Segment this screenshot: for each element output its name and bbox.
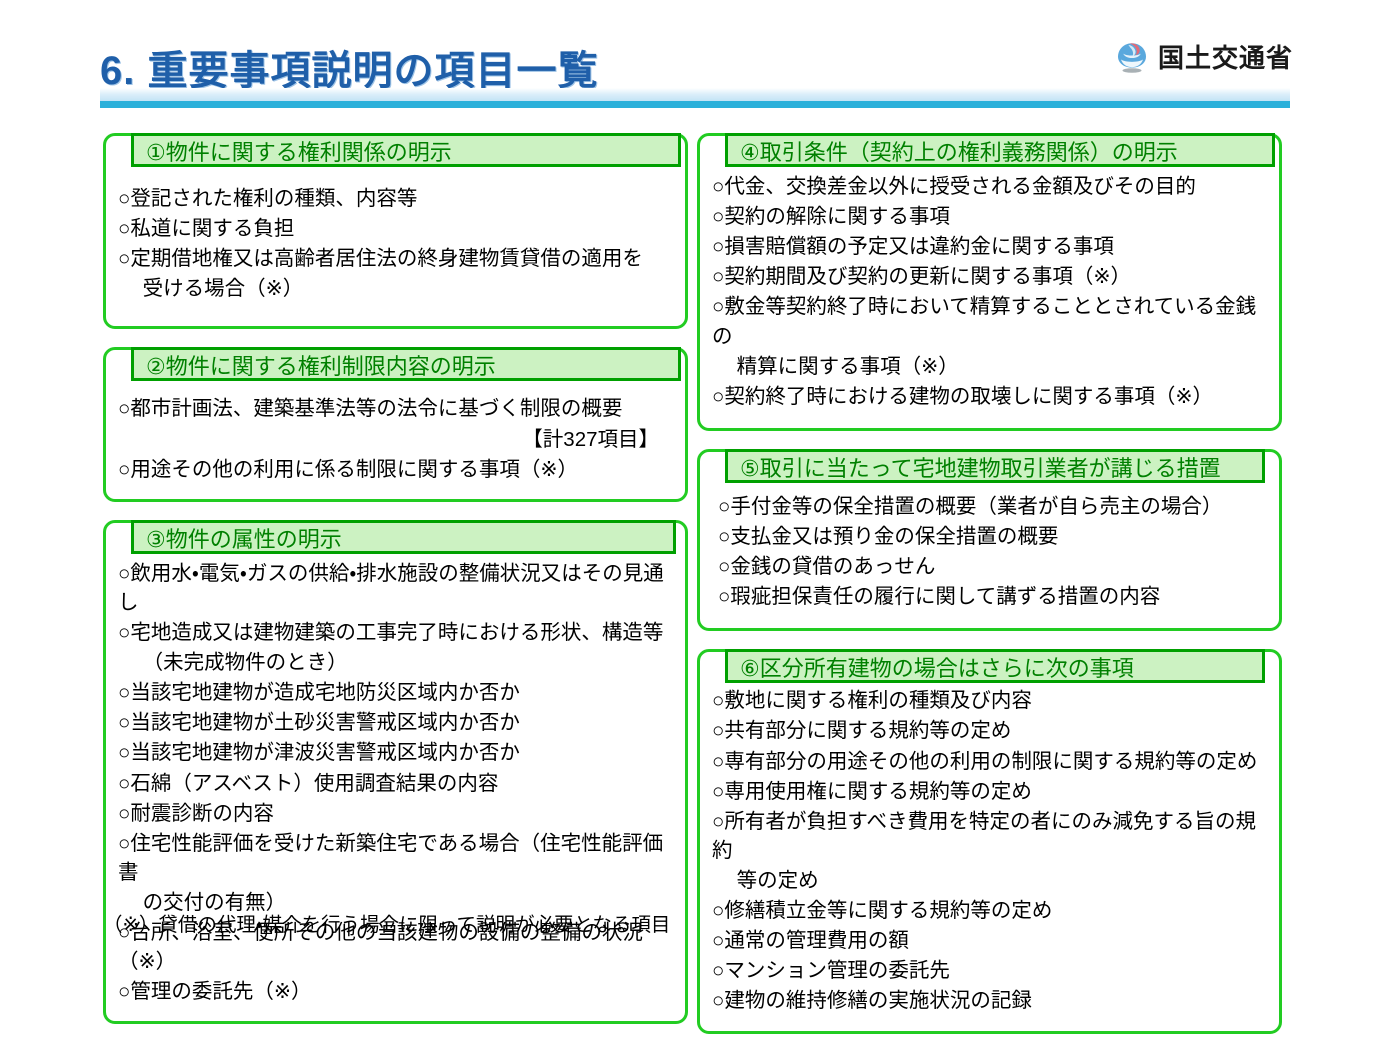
right-column: ④取引条件（契約上の権利義務関係）の明示 ○代金、交換差金以外に授受される金額及…: [697, 133, 1282, 1052]
section-1-item-list: ○登記された権利の種類、内容等 ○私道に関する負担 ○定期借地権又は高齢者居住法…: [118, 184, 673, 303]
section-6: ⑥区分所有建物の場合はさらに次の事項 ○敷地に関する権利の種類及び内容 ○共有部…: [697, 649, 1282, 1033]
list-item: ○当該宅地建物が造成宅地防災区域内か否か: [118, 678, 673, 707]
list-item: ○契約の解除に関する事項: [712, 202, 1267, 231]
section-3-body: ○飲用水・電気・ガスの供給・排水施設の整備状況又はその見通し ○宅地造成又は建物…: [103, 520, 688, 1025]
list-item: ○損害賠償額の予定又は違約金に関する事項: [712, 232, 1267, 261]
section-3: ③物件の属性の明示 ○飲用水・電気・ガスの供給・排水施設の整備状況又はその見通し…: [103, 520, 688, 1025]
list-item: ○用途その他の利用に係る制限に関する事項（※）: [118, 455, 673, 484]
list-item: ○通常の管理費用の額: [712, 926, 1267, 955]
ministry-logo: 国土交通省: [1115, 38, 1293, 75]
list-item: ○建物の維持修繕の実施状況の記録: [712, 986, 1267, 1015]
list-item: ○金銭の貸借のあっせん: [718, 552, 1267, 581]
title-underline-rule: [100, 101, 1290, 108]
list-item: ○当該宅地建物が津波災害警戒区域内か否か: [118, 738, 673, 767]
list-item: ○石綿（アスベスト）使用調査結果の内容: [118, 769, 673, 798]
list-item: ○管理の委託先（※）: [118, 977, 673, 1006]
section-4-item-list: ○代金、交換差金以外に授受される金額及びその目的 ○契約の解除に関する事項 ○損…: [712, 172, 1267, 411]
list-item: ○契約期間及び契約の更新に関する事項（※）: [712, 262, 1267, 291]
list-item: ○マンション管理の委託先: [712, 956, 1267, 985]
slide-header: 6. 重要事項説明の項目一覧 国土交通省: [0, 0, 1375, 118]
list-item-continuation: 等の定め: [712, 866, 1267, 895]
list-item-continuation: （未完成物件のとき）: [118, 648, 673, 677]
list-item: ○宅地造成又は建物建築の工事完了時における形状、構造等: [118, 618, 673, 647]
list-item: ○修繕積立金等に関する規約等の定め: [712, 896, 1267, 925]
list-item: ○支払金又は預り金の保全措置の概要: [718, 522, 1267, 551]
list-item: ○当該宅地建物が土砂災害警戒区域内か否か: [118, 708, 673, 737]
section-5-heading: ⑤取引に当たって宅地建物取引業者が講じる措置: [725, 449, 1265, 483]
list-item: ○耐震診断の内容: [118, 799, 673, 828]
section-4-body: ○代金、交換差金以外に授受される金額及びその目的 ○契約の解除に関する事項 ○損…: [697, 133, 1282, 431]
list-item-continuation: 精算に関する事項（※）: [712, 352, 1267, 381]
list-item: ○代金、交換差金以外に授受される金額及びその目的: [712, 172, 1267, 201]
item-total-count: 【計327項目】: [118, 425, 673, 454]
list-item: ○手付金等の保全措置の概要（業者が自ら売主の場合）: [718, 492, 1267, 521]
list-item: ○所有者が負担すべき費用を特定の者にのみ減免する旨の規約: [712, 807, 1267, 865]
list-item: ○専用使用権に関する規約等の定め: [712, 777, 1267, 806]
section-2-heading: ②物件に関する権利制限内容の明示: [131, 347, 681, 381]
section-1: ①物件に関する権利関係の明示 ○登記された権利の種類、内容等 ○私道に関する負担…: [103, 133, 688, 329]
list-item: ○専有部分の用途その他の利用の制限に関する規約等の定め: [712, 747, 1267, 776]
title-gradient-band: [100, 88, 1290, 102]
section-3-heading: ③物件の属性の明示: [131, 520, 676, 554]
list-item: ○契約終了時における建物の取壊しに関する事項（※）: [712, 382, 1267, 411]
mlit-emblem-icon: [1115, 40, 1149, 74]
list-item: ○登記された権利の種類、内容等: [118, 184, 673, 213]
section-5: ⑤取引に当たって宅地建物取引業者が講じる措置 ○手付金等の保全措置の概要（業者が…: [697, 449, 1282, 631]
list-item: ○飲用水・電気・ガスの供給・排水施設の整備状況又はその見通し: [118, 559, 673, 617]
section-4: ④取引条件（契約上の権利義務関係）の明示 ○代金、交換差金以外に授受される金額及…: [697, 133, 1282, 431]
section-1-heading: ①物件に関する権利関係の明示: [131, 133, 681, 167]
section-6-heading: ⑥区分所有建物の場合はさらに次の事項: [725, 649, 1265, 683]
ministry-name: 国土交通省: [1158, 38, 1293, 75]
section-3-item-list: ○飲用水・電気・ガスの供給・排水施設の整備状況又はその見通し ○宅地造成又は建物…: [118, 559, 673, 1007]
section-6-item-list: ○敷地に関する権利の種類及び内容 ○共有部分に関する規約等の定め ○専有部分の用…: [712, 686, 1267, 1015]
list-item: ○住宅性能評価を受けた新築住宅である場合（住宅性能評価書: [118, 829, 673, 887]
list-item: ○都市計画法、建築基準法等の法令に基づく制限の概要: [118, 394, 673, 423]
list-item-continuation: 受ける場合（※）: [118, 274, 673, 303]
list-item: ○敷地に関する権利の種類及び内容: [712, 686, 1267, 715]
section-6-body: ○敷地に関する権利の種類及び内容 ○共有部分に関する規約等の定め ○専有部分の用…: [697, 649, 1282, 1033]
list-item: ○共有部分に関する規約等の定め: [712, 716, 1267, 745]
list-item: ○私道に関する負担: [118, 214, 673, 243]
section-4-heading: ④取引条件（契約上の権利義務関係）の明示: [725, 133, 1275, 167]
section-2: ②物件に関する権利制限内容の明示 ○都市計画法、建築基準法等の法令に基づく制限の…: [103, 347, 688, 501]
section-2-item-list: ○都市計画法、建築基準法等の法令に基づく制限の概要 【計327項目】 ○用途その…: [118, 394, 673, 483]
footnote-note: （※）貸借の代理・媒介を行う場合に限って説明が必要となる項目: [103, 908, 670, 937]
list-item: ○瑕疵担保責任の履行に関して講ずる措置の内容: [718, 582, 1267, 611]
left-column: ①物件に関する権利関係の明示 ○登記された権利の種類、内容等 ○私道に関する負担…: [103, 133, 688, 1042]
list-item: ○敷金等契約終了時において精算することとされている金銭の: [712, 292, 1267, 350]
list-item: ○定期借地権又は高齢者居住法の終身建物賃貸借の適用を: [118, 244, 673, 273]
section-5-item-list: ○手付金等の保全措置の概要（業者が自ら売主の場合） ○支払金又は預り金の保全措置…: [718, 492, 1267, 611]
